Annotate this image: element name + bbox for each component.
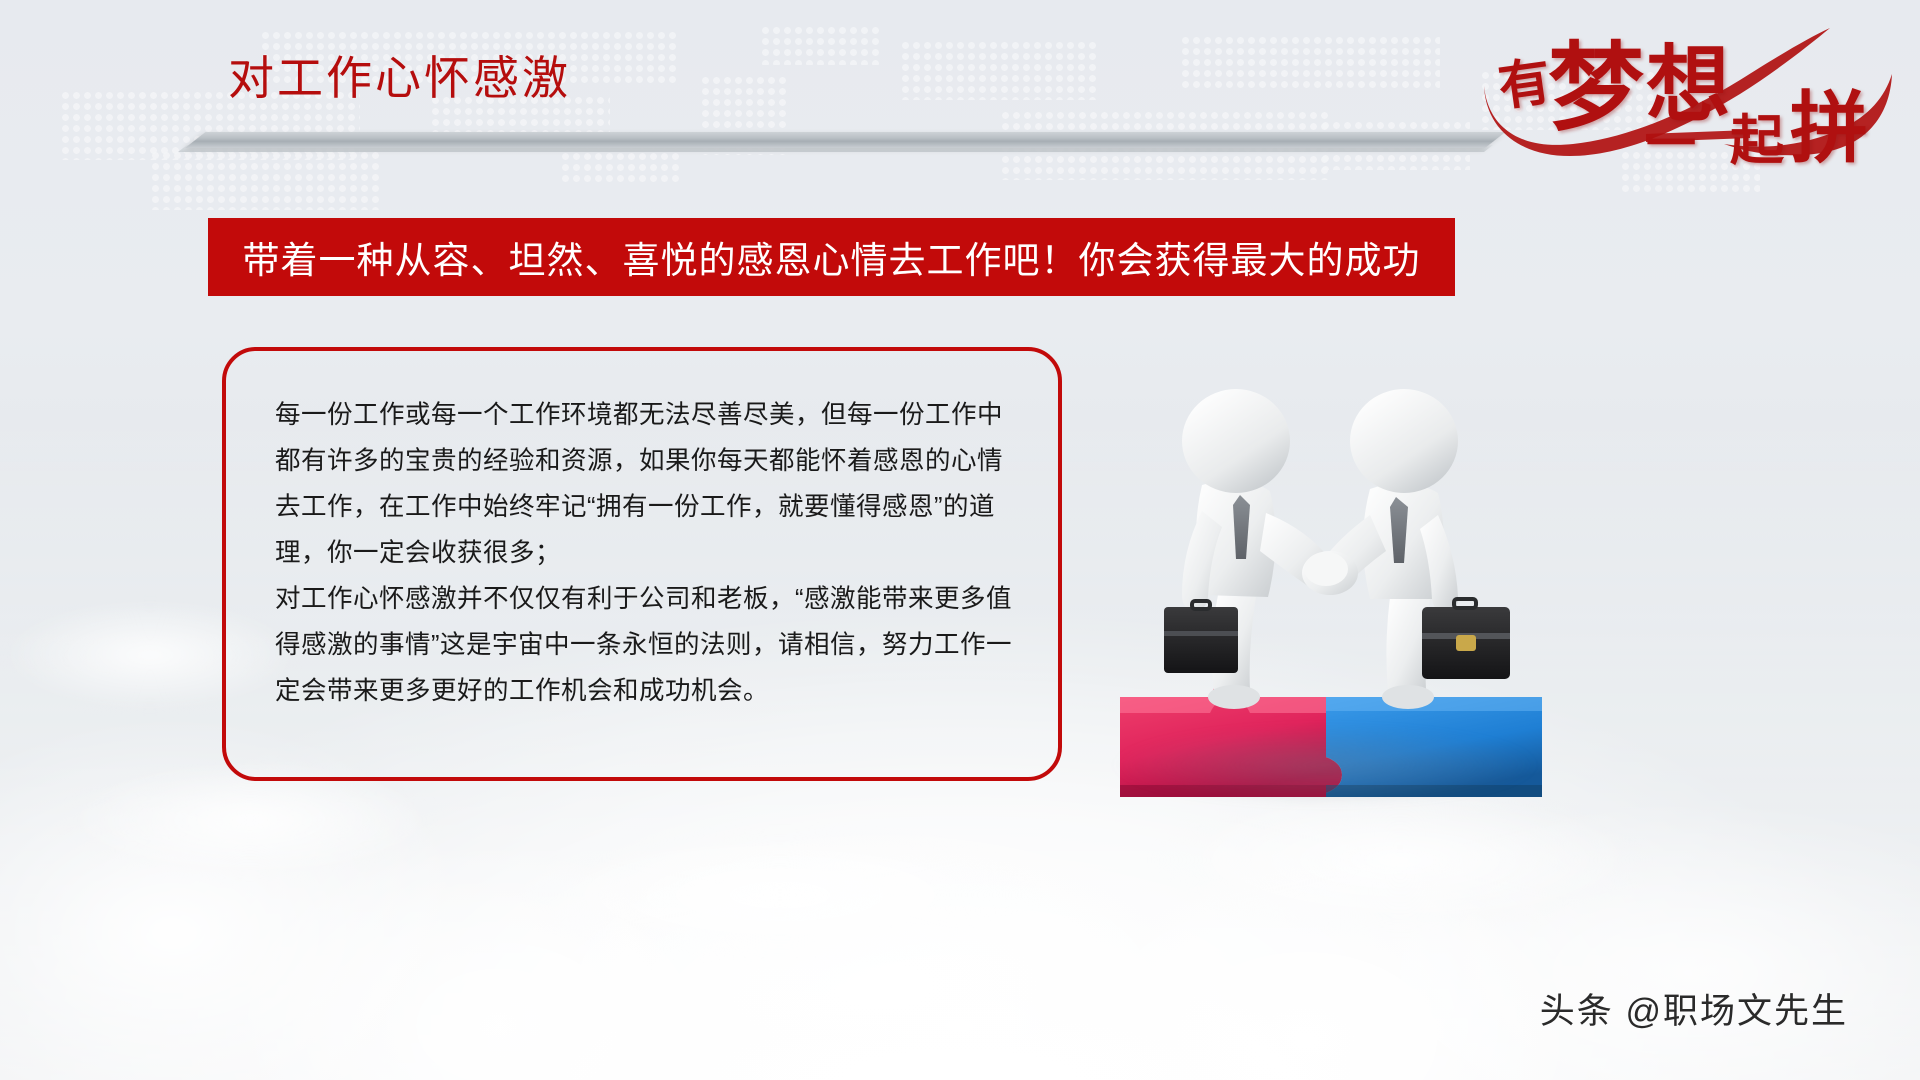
logo-have-a-dream: 有 梦 想 一 起 拼 [1478,4,1898,164]
logo-char-you: 有 [1493,39,1555,121]
clasped-hands [1302,551,1358,595]
logo-char-qi: 起 [1730,96,1784,175]
presentation-slide: 对工作心怀感激 有 梦 想 一 起 拼 带着一种从容、坦然、喜悦的感恩心情去工作… [0,0,1920,1080]
logo-char-pin: 拼 [1790,66,1868,178]
figure-right [1318,389,1510,709]
banner-text: 带着一种从容、坦然、喜悦的感恩心情去工作吧！你会获得最大的成功 [243,230,1421,284]
page-title: 对工作心怀感激 [228,42,571,108]
briefcase-left [1164,601,1238,673]
figure-left [1164,389,1336,709]
logo-char-yi: 一 [1646,104,1696,176]
body-paragraph-1: 每一份工作或每一个工作环境都无法尽善尽美，但每一份工作中都有许多的宝贵的经验和资… [275,392,1015,576]
body-paragraph-2: 对工作心怀感激并不仅仅有利于公司和老板，“感激能带来更多值得感激的事情”这是宇宙… [275,576,1015,714]
title-underline-bar [185,132,1505,148]
handshake-illustration [1090,345,1570,815]
logo-char-meng: 梦 [1548,10,1644,149]
watermark: 头条 @职场文先生 [1540,983,1848,1034]
cloud-wisp [520,830,1040,960]
highlight-banner: 带着一种从容、坦然、喜悦的感恩心情去工作吧！你会获得最大的成功 [208,218,1455,296]
briefcase-right [1422,599,1510,679]
illustration-shadow [1110,725,1540,805]
body-text-content: 每一份工作或每一个工作环境都无法尽善尽美，但每一份工作中都有许多的宝贵的经验和资… [275,392,1015,714]
